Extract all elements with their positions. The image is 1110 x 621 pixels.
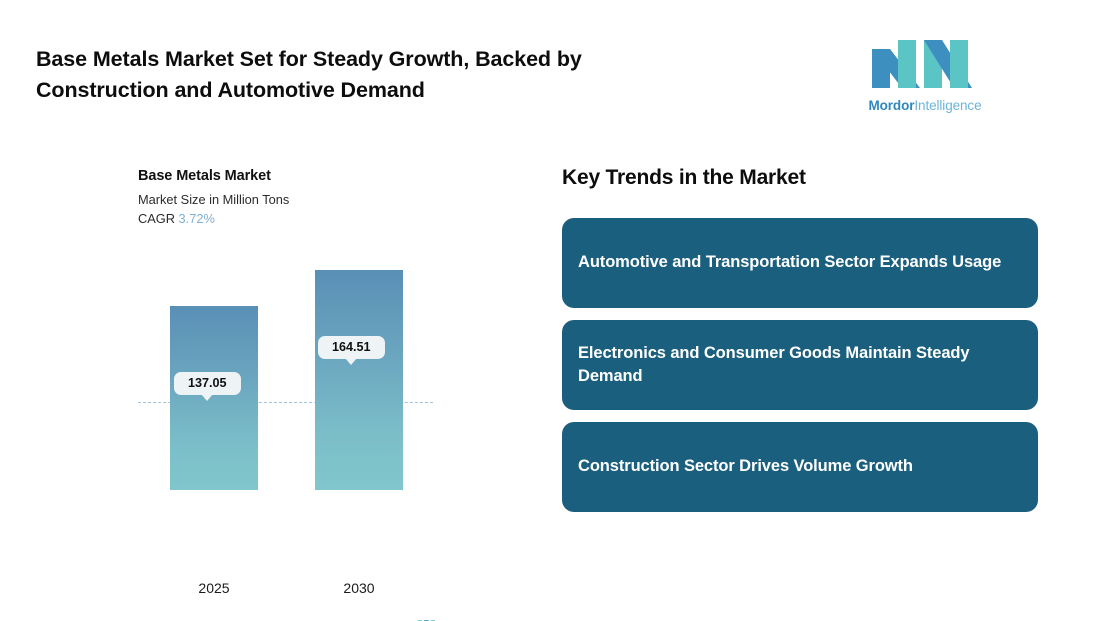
- wordmark-light: Intelligence: [914, 98, 981, 113]
- x-tick-2025: 2025: [159, 580, 269, 596]
- page-title: Base Metals Market Set for Steady Growth…: [36, 44, 696, 105]
- bar-2025: [170, 306, 258, 490]
- data-label-2025: 137.05: [174, 372, 241, 395]
- mordor-m-logo-icon: [868, 38, 980, 92]
- chart-subtitle: Market Size in Million Tons: [138, 192, 438, 207]
- wordmark-bold: Mordor: [868, 98, 914, 113]
- chart-cagr: CAGR 3.72%: [138, 211, 438, 226]
- key-trends-heading: Key Trends in the Market: [562, 166, 1038, 190]
- trend-card-text: Electronics and Consumer Goods Maintain …: [578, 342, 1022, 389]
- cagr-label: CAGR: [138, 211, 175, 226]
- x-axis-labels: 2025 2030: [138, 580, 438, 604]
- key-trends-panel: Key Trends in the Market Automotive and …: [562, 166, 1038, 512]
- chart-title: Base Metals Market: [138, 168, 438, 184]
- data-label-2030: 164.51: [318, 336, 385, 359]
- bar-chart-plot: 137.05 164.51 2025 2030 Source : Mordor …: [138, 250, 438, 490]
- x-tick-2030: 2030: [304, 580, 414, 596]
- brand-wordmark: MordorIntelligence: [868, 98, 982, 113]
- trend-card: Construction Sector Drives Volume Growth: [562, 422, 1038, 512]
- chart-panel: Base Metals Market Market Size in Millio…: [138, 168, 438, 558]
- trend-card-text: Automotive and Transportation Sector Exp…: [578, 251, 1001, 274]
- cagr-value: 3.72%: [179, 211, 215, 226]
- brand-logo: MordorIntelligence: [868, 38, 982, 113]
- trend-card: Electronics and Consumer Goods Maintain …: [562, 320, 1038, 410]
- bar-2030: [315, 270, 403, 490]
- trend-card-text: Construction Sector Drives Volume Growth: [578, 455, 913, 478]
- trend-card: Automotive and Transportation Sector Exp…: [562, 218, 1038, 308]
- infographic-page: Base Metals Market Set for Steady Growth…: [0, 0, 1110, 621]
- trend-card-list: Automotive and Transportation Sector Exp…: [562, 218, 1038, 512]
